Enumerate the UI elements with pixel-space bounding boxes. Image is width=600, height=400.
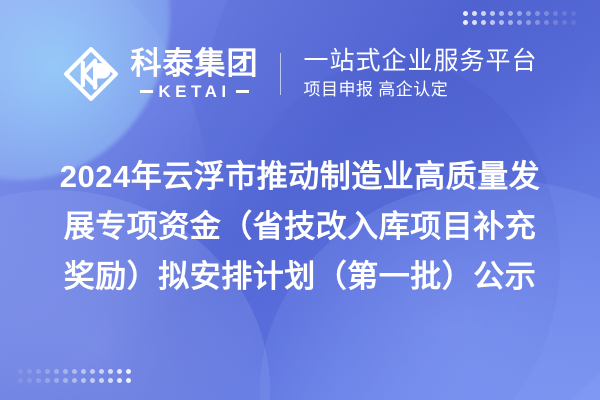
dot-grid-row [463, 20, 576, 25]
dot-icon [81, 378, 86, 383]
dot-icon [490, 20, 495, 25]
promotional-banner: 科泰集团 KETAI 一站式企业服务平台 项目申报 高企认定 2024年云浮市推… [0, 0, 600, 400]
dot-icon [472, 11, 477, 16]
dot-icon [90, 369, 95, 374]
ketai-logo[interactable]: 科泰集团 KETAI [62, 45, 280, 103]
dot-icon [117, 369, 122, 374]
dot-icon [90, 378, 95, 383]
dot-icon [553, 20, 558, 25]
dot-icon [54, 378, 59, 383]
dot-icon [517, 20, 522, 25]
slogan-sub-text: 项目申报 高企认定 [303, 79, 537, 101]
dot-icon [544, 11, 549, 16]
dot-icon [63, 378, 68, 383]
dot-icon [45, 369, 50, 374]
dot-icon [81, 369, 86, 374]
dot-icon [463, 11, 468, 16]
dot-icon [27, 378, 32, 383]
dash-icon-left [140, 90, 153, 93]
page-title-line: 2024年云浮市推动制造业高质量发 [28, 152, 572, 202]
dot-icon [463, 20, 468, 25]
dot-icon [508, 20, 513, 25]
dot-icon [526, 11, 531, 16]
dot-icon [481, 20, 486, 25]
dot-icon [526, 20, 531, 25]
ketai-diamond-kp-monogram-icon [62, 45, 120, 103]
dot-icon [126, 369, 131, 374]
page-title-line: 奖励）拟安排计划（第一批）公示 [28, 252, 572, 302]
dot-icon [499, 11, 504, 16]
dot-icon [535, 11, 540, 16]
ketai-wordmark: 科泰集团 KETAI [130, 48, 258, 100]
dot-icon [535, 20, 540, 25]
dot-icon [571, 20, 576, 25]
dot-icon [36, 369, 41, 374]
dot-icon [117, 378, 122, 383]
dot-icon [544, 20, 549, 25]
slogan-main-text: 一站式企业服务平台 [303, 47, 537, 77]
dot-icon [108, 369, 113, 374]
dot-icon [108, 378, 113, 383]
dot-grid-row [463, 11, 576, 16]
page-title-line: 展专项资金（省技改入库项目补充 [28, 202, 572, 252]
dot-icon [18, 378, 23, 383]
dot-icon [72, 378, 77, 383]
logo-name-cn: 科泰集团 [130, 48, 258, 81]
dot-icon [99, 378, 104, 383]
dot-icon [472, 20, 477, 25]
dot-icon [54, 369, 59, 374]
dot-icon [36, 378, 41, 383]
page-title: 2024年云浮市推动制造业高质量发 展专项资金（省技改入库项目补充 奖励）拟安排… [0, 152, 600, 302]
dot-icon [562, 20, 567, 25]
dot-icon [126, 378, 131, 383]
dot-grid-row [18, 369, 131, 374]
dot-icon [63, 369, 68, 374]
dot-icon [508, 11, 513, 16]
dot-icon [27, 369, 32, 374]
logo-name-en-row: KETAI [140, 83, 248, 100]
dot-grid-icon-bottom-left [18, 369, 131, 383]
dot-icon [72, 369, 77, 374]
dot-grid-row [18, 378, 131, 383]
dot-icon [499, 20, 504, 25]
dot-icon [99, 369, 104, 374]
dot-icon [45, 378, 50, 383]
logo-name-en: KETAI [158, 83, 230, 100]
dot-icon [481, 11, 486, 16]
banner-header: 科泰集团 KETAI 一站式企业服务平台 项目申报 高企认定 [0, 36, 600, 112]
dot-grid-icon-top-right [463, 11, 576, 25]
dash-icon-right [236, 90, 249, 93]
dot-icon [517, 11, 522, 16]
dot-icon [553, 11, 558, 16]
dot-icon [562, 11, 567, 16]
dot-icon [490, 11, 495, 16]
dot-icon [571, 11, 576, 16]
slogan-block: 一站式企业服务平台 项目申报 高企认定 [281, 47, 537, 102]
dot-icon [18, 369, 23, 374]
